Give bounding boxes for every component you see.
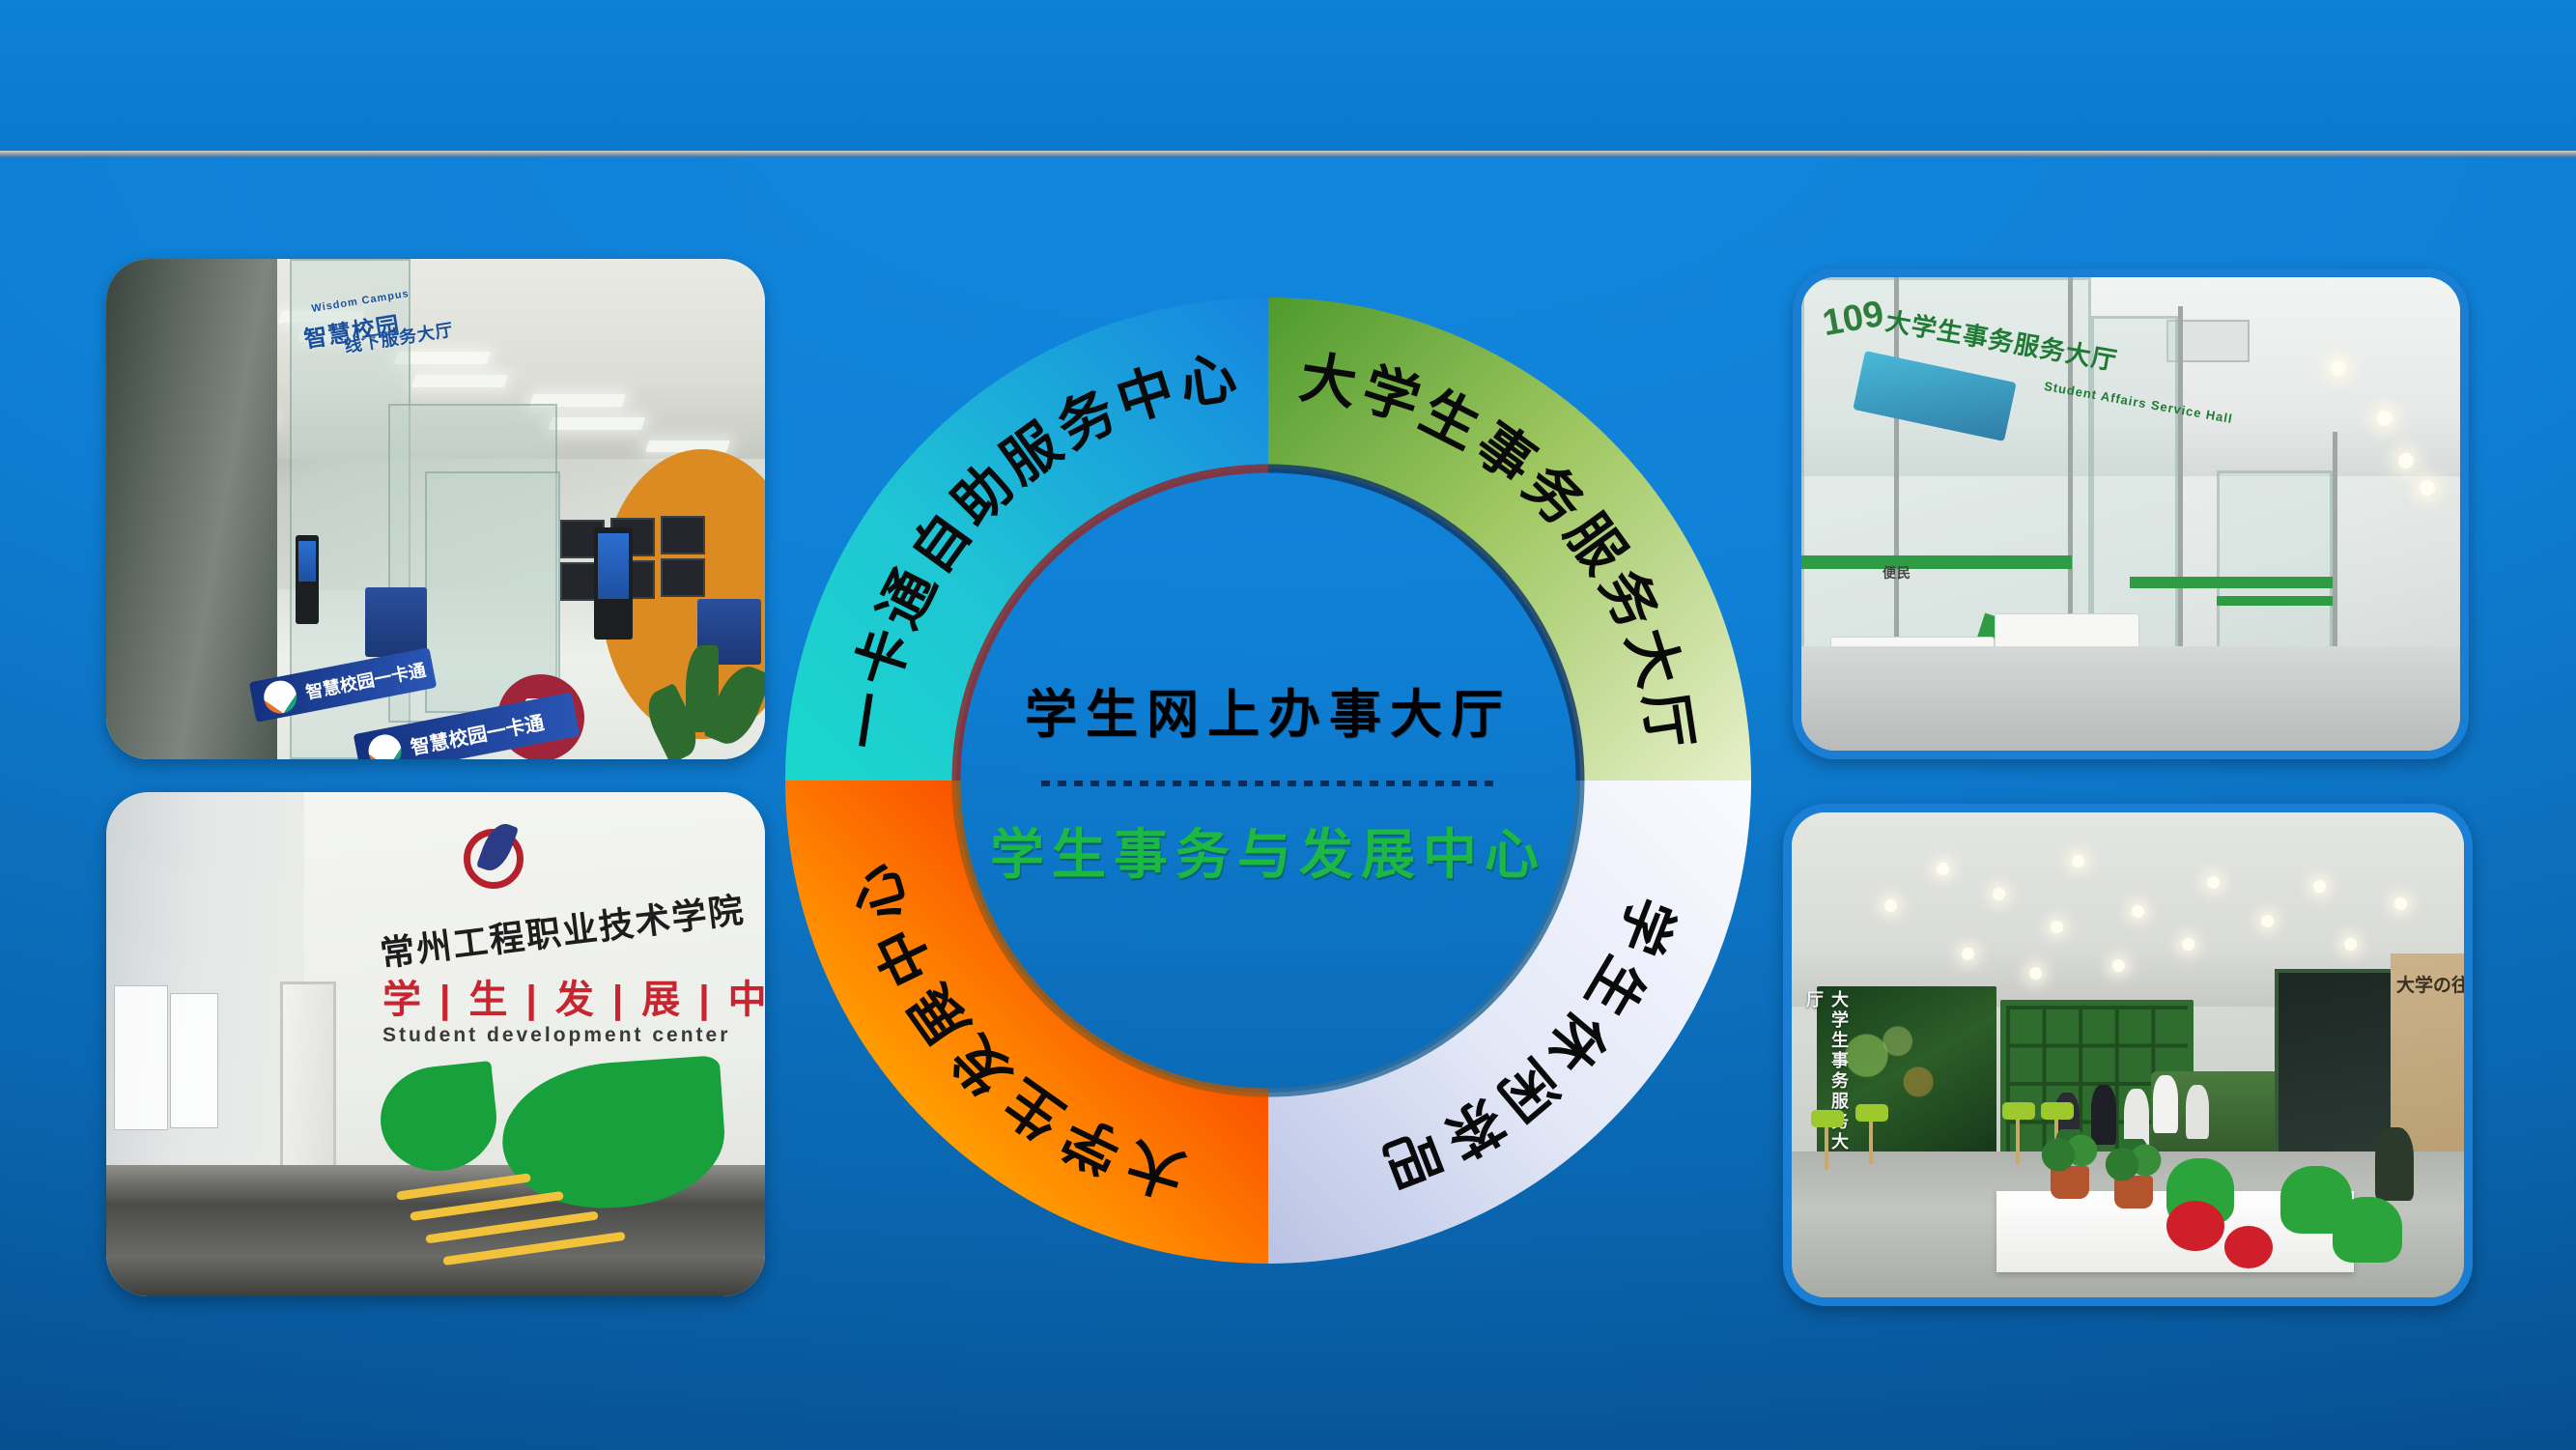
- student-development-center-photo[interactable]: 常州工程职业技术学院 学 | 生 | 发 | 展 | 中 | 心 Student…: [106, 792, 765, 1296]
- center-name-cn: 学 | 生 | 发 | 展 | 中 | 心: [382, 968, 765, 1024]
- donut-center-content: 学生网上办事大厅 学生事务与发展中心: [956, 469, 1580, 1093]
- center-subtitle: 学生事务与发展中心: [990, 811, 1546, 890]
- convenience-label: 便民: [1882, 563, 1911, 583]
- header-divider-rule: [0, 151, 2576, 157]
- student-leisure-tea-bar-photo[interactable]: 大学の往事 大学生事务服务大厅: [1783, 804, 2473, 1306]
- center-divider: [1041, 781, 1495, 786]
- qr-code-icon: [261, 678, 299, 717]
- school-logo: [464, 829, 524, 889]
- donut-label-char: 大: [1121, 1133, 1191, 1203]
- one-card-self-service-hall-photo[interactable]: 智慧校园 Wisdom Campus 线下服务大厅 智慧校园一卡通 智慧校园一卡…: [106, 259, 765, 759]
- student-affairs-service-hall-photo[interactable]: 109 大学生事务服务大厅 Student Affairs Service Ha…: [1793, 269, 2469, 759]
- floor: [1801, 646, 2460, 751]
- donut-label-char: 生: [996, 1070, 1074, 1149]
- donut-label-char: 心: [846, 859, 916, 928]
- qr-code-icon: [366, 731, 405, 759]
- tan-panel-text: 大学の往事: [2396, 971, 2464, 997]
- header-band: [0, 0, 2576, 153]
- center-title: 学生网上办事大厅: [1025, 671, 1512, 748]
- donut-label-char: 学: [1056, 1106, 1130, 1180]
- center-name-en: Student development center: [382, 1024, 730, 1047]
- donut-label-char: 中: [867, 919, 942, 993]
